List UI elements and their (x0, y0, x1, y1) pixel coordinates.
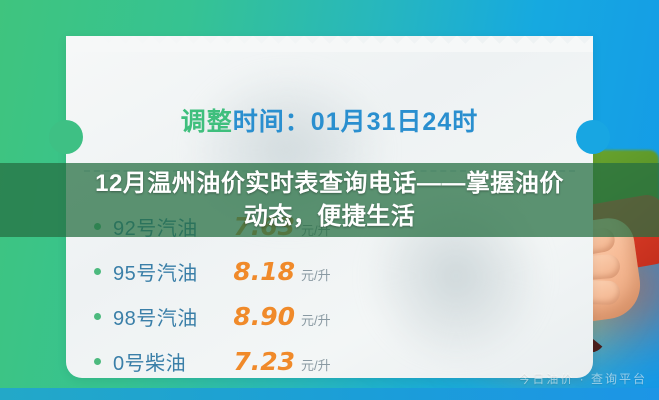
fuel-price-value: 8.90 (229, 302, 295, 331)
ticket-sawtooth-edge (66, 36, 593, 52)
watermark-text: 今日油价 · 查询平台 (518, 370, 647, 387)
fuel-price-unit: 元/升 (301, 310, 331, 329)
fuel-type-label: 0号柴油 (113, 347, 229, 376)
ticket-notch-right (576, 120, 610, 154)
fuel-type-label: 95号汽油 (113, 257, 229, 286)
bullet-dot-icon (94, 358, 101, 365)
fuel-price-unit: 元/升 (301, 265, 331, 284)
fuel-type-label: 98号汽油 (113, 302, 229, 331)
adjustment-time-value: 01月31日24时 (311, 108, 478, 136)
bullet-dot-icon (94, 268, 101, 275)
adjustment-label-blue: 时间： (233, 108, 311, 136)
screenshot-canvas: 调整时间：01月31日24时 92号汽油 7.63 元/升 95号汽油 8.18… (0, 0, 659, 400)
price-row-diesel: 0号柴油 7.23 元/升 (94, 347, 424, 378)
fuel-price-unit: 元/升 (301, 355, 331, 374)
ticket-notch-left (49, 120, 83, 154)
bullet-dot-icon (94, 313, 101, 320)
fuel-price-value: 8.18 (229, 257, 295, 286)
price-row-95: 95号汽油 8.18 元/升 (94, 257, 424, 302)
adjustment-label-green: 调整 (181, 108, 233, 136)
bottom-accent-strip (0, 388, 659, 400)
price-row-98: 98号汽油 8.90 元/升 (94, 302, 424, 347)
adjustment-time-heading: 调整时间：01月31日24时 (66, 102, 593, 138)
article-title-line-1: 12月温州油价实时表查询电话——掌握油价 (95, 167, 564, 200)
article-title: 12月温州油价实时表查询电话——掌握油价 动态，便捷生活 (0, 164, 659, 236)
article-title-line-2: 动态，便捷生活 (244, 200, 416, 233)
fuel-price-value: 7.23 (229, 347, 295, 376)
